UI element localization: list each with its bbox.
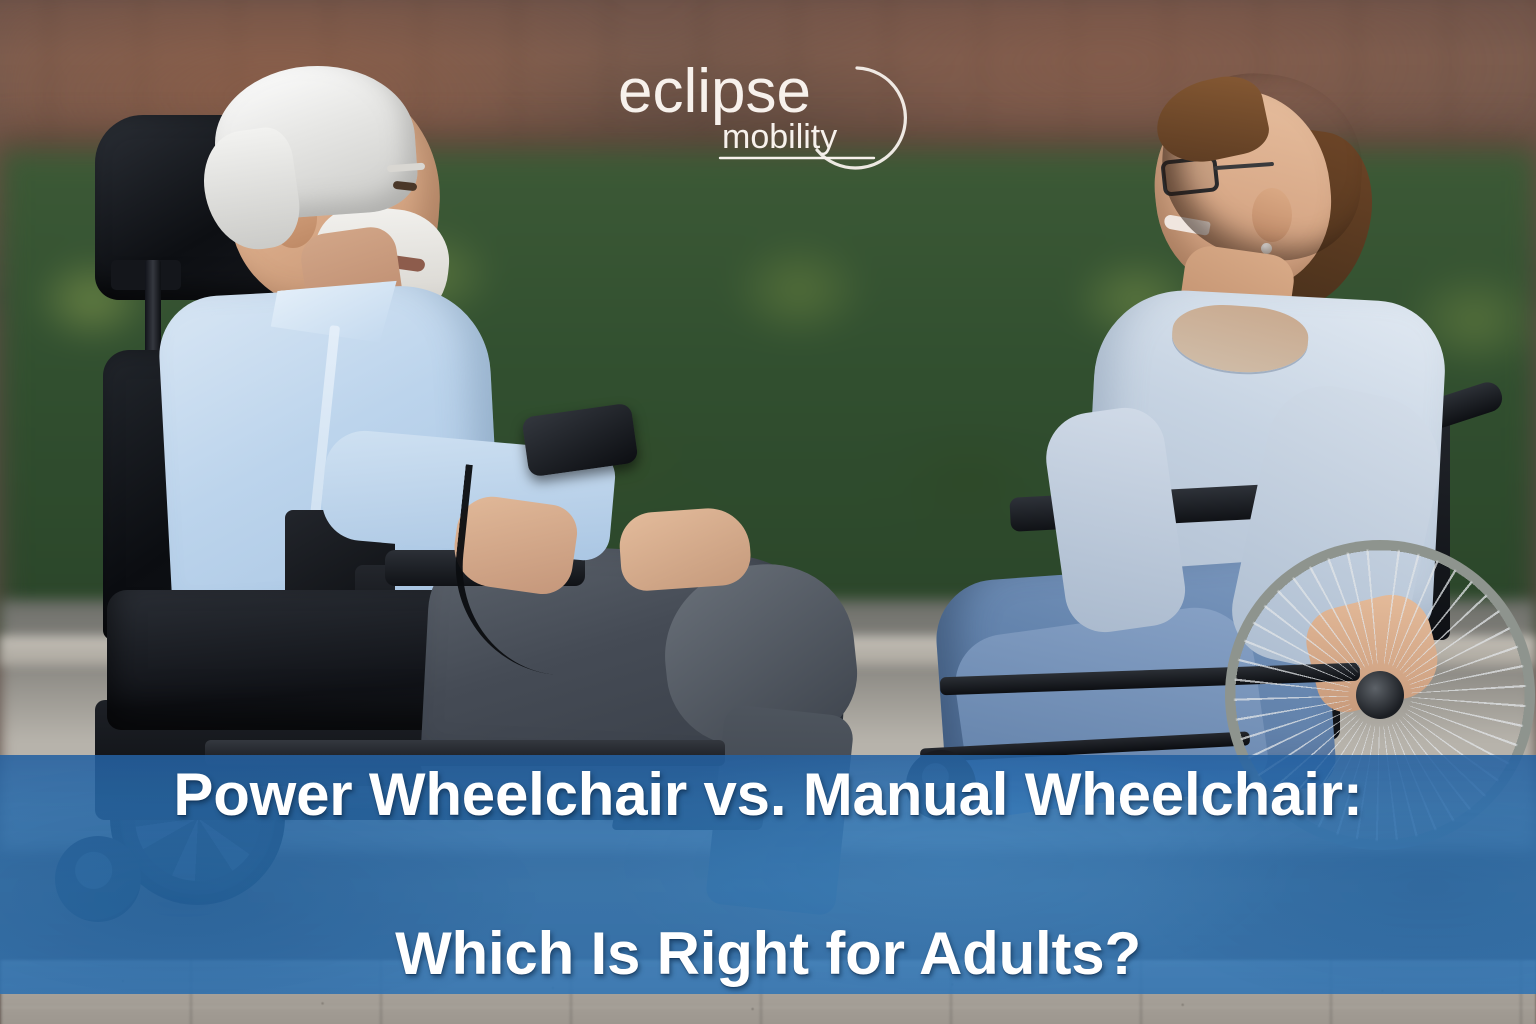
title-banner: Power Wheelchair vs. Manual Wheelchair: … — [0, 755, 1536, 994]
woman-in-manual-wheelchair — [880, 60, 1536, 820]
hero-image: eclipse mobility Power Wheelchair vs. Ma… — [0, 0, 1536, 1024]
page-title-line-2: Which Is Right for Adults? — [173, 914, 1362, 994]
man-in-power-wheelchair — [55, 110, 815, 810]
manual-wheelchair-wheel-hub — [1356, 671, 1404, 719]
power-wheelchair-joystick — [521, 403, 638, 478]
page-title-line-1: Power Wheelchair vs. Manual Wheelchair: — [173, 755, 1362, 835]
page-title: Power Wheelchair vs. Manual Wheelchair: … — [133, 755, 1402, 994]
man-hand-on-knee — [617, 506, 752, 593]
